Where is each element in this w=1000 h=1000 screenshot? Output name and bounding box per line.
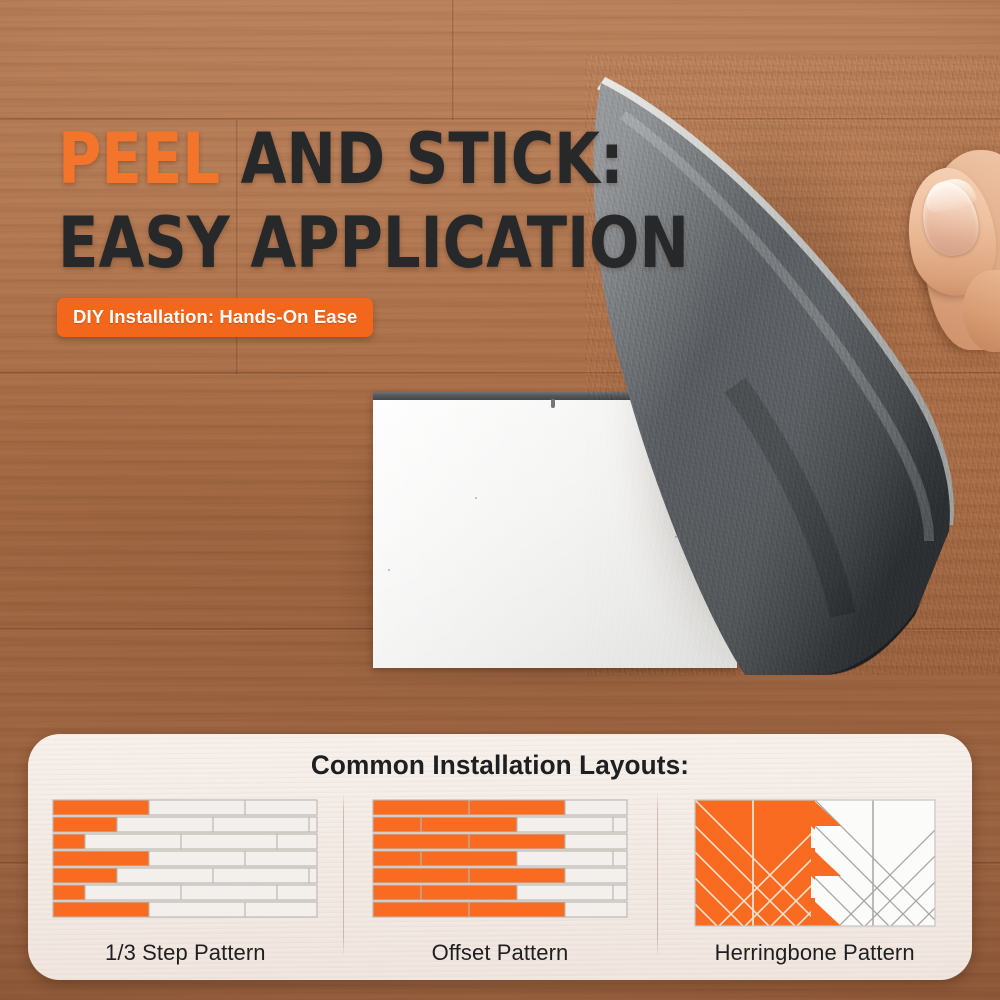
layout-label-offset: Offset Pattern [343,940,658,966]
product-marketing-image: PEEL AND STICK: EASY APPLICATION DIY Ins… [0,0,1000,1000]
headline-accent-word: PEEL [58,118,220,200]
plank-edge-nub [551,399,555,408]
layout-column-one-third-step: 1/3 Step Pattern [28,792,343,982]
layout-columns: 1/3 Step Pattern [28,792,972,982]
headline-line-1-rest: AND STICK: [220,118,624,200]
liner-speck [475,497,477,499]
layout-column-offset: Offset Pattern [343,792,658,982]
one-third-step-diagram [51,798,319,928]
layout-label-herringbone: Herringbone Pattern [657,940,972,966]
diy-badge-label: DIY Installation: Hands-On Ease [73,306,357,328]
column-divider [343,792,344,957]
one-third-step-svg [51,798,319,928]
layout-label-one-third-step: 1/3 Step Pattern [28,940,343,966]
headline-line-2: EASY APPLICATION [58,208,641,278]
diy-badge: DIY Installation: Hands-On Ease [57,298,373,337]
offset-diagram [371,798,629,928]
liner-speck [388,569,390,571]
herringbone-svg [693,798,937,928]
headline: PEEL AND STICK: EASY APPLICATION [58,124,678,278]
layout-column-herringbone: Herringbone Pattern [657,792,972,982]
column-divider [657,792,658,957]
offset-svg [371,798,629,928]
panel-title: Common Installation Layouts: [15,750,985,781]
headline-line-1: PEEL AND STICK: [58,124,641,194]
hand-holding-plank [905,150,1000,360]
herringbone-diagram [693,798,937,928]
